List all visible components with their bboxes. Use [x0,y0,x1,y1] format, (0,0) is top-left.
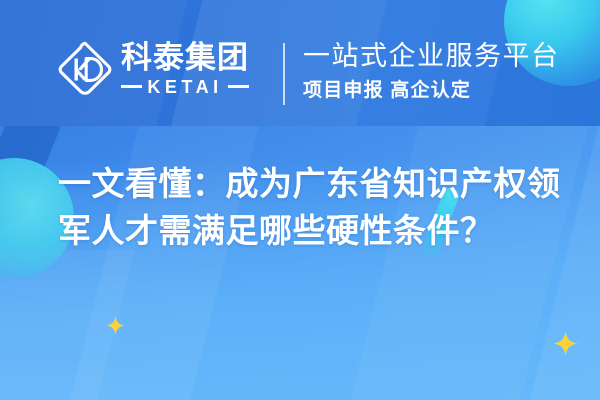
slogan-sub-text: 项目申报 高企认定 [303,80,560,102]
vertical-divider-icon [283,43,285,105]
brand-name-en: KETAI [147,78,222,96]
slogan-main-text: 一站式企业服务平台 [303,41,560,73]
diagonal-stripe [0,250,135,400]
brand-logo-wordmark: 科泰集团 KETAI [121,42,249,95]
four-point-star-icon [553,331,578,361]
ketai-diamond-kd-logo-icon [58,40,112,98]
brand-name-en-row: KETAI [121,78,249,96]
page-title: 一文看懂：成为广东省知识产权领 军人才需满足哪些硬性条件？ [58,161,568,255]
brand-logo[interactable]: 科泰集团 KETAI [58,40,249,98]
promo-banner: 科泰集团 KETAI 一站式企业服务平台 项目申报 高企认定 一文看懂：成为广东… [0,0,600,400]
header-slogan: 一站式企业服务平台 项目申报 高企认定 [303,41,560,102]
four-point-star-icon [106,316,125,340]
page-title-line-1: 一文看懂：成为广东省知识产权领 [58,161,568,208]
brand-name-cn: 科泰集团 [121,42,249,74]
page-title-line-2: 军人才需满足哪些硬性条件？ [58,208,568,255]
logo-rule-right [228,85,249,88]
logo-rule-left [121,85,142,88]
